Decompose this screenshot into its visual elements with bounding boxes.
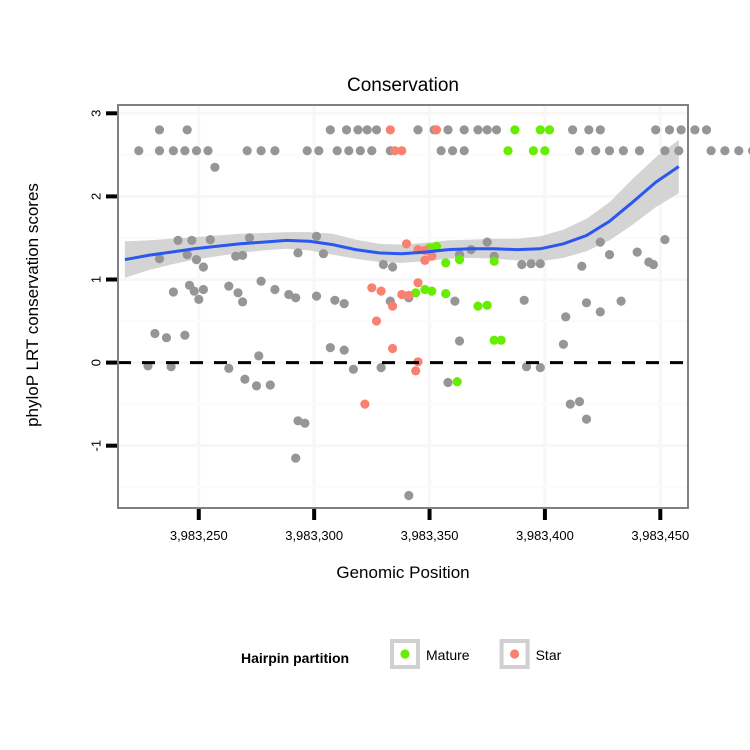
x-tick-label: 3,983,450 bbox=[631, 528, 689, 543]
data-point-unassigned bbox=[443, 125, 452, 134]
data-point-star bbox=[402, 239, 411, 248]
data-point-unassigned bbox=[559, 340, 568, 349]
data-point-unassigned bbox=[344, 146, 353, 155]
data-point-unassigned bbox=[330, 296, 339, 305]
data-point-unassigned bbox=[575, 397, 584, 406]
legend-entry-label: Star bbox=[536, 647, 562, 663]
data-point-unassigned bbox=[169, 287, 178, 296]
data-point-unassigned bbox=[155, 125, 164, 134]
data-point-unassigned bbox=[443, 378, 452, 387]
y-tick-label: 1 bbox=[89, 276, 104, 283]
data-point-unassigned bbox=[314, 146, 323, 155]
data-point-unassigned bbox=[450, 297, 459, 306]
data-point-unassigned bbox=[460, 125, 469, 134]
data-point-unassigned bbox=[349, 365, 358, 374]
data-point-mature bbox=[497, 336, 506, 345]
data-point-unassigned bbox=[300, 419, 309, 428]
data-point-unassigned bbox=[527, 259, 536, 268]
data-point-unassigned bbox=[734, 146, 743, 155]
data-point-mature bbox=[441, 289, 450, 298]
data-point-unassigned bbox=[194, 295, 203, 304]
data-point-unassigned bbox=[690, 125, 699, 134]
data-point-star bbox=[404, 291, 413, 300]
y-tick-label: 3 bbox=[89, 110, 104, 117]
data-point-unassigned bbox=[635, 146, 644, 155]
data-point-mature bbox=[427, 287, 436, 296]
x-tick-label: 3,983,350 bbox=[401, 528, 459, 543]
x-tick-label: 3,983,400 bbox=[516, 528, 574, 543]
data-point-unassigned bbox=[238, 297, 247, 306]
data-point-unassigned bbox=[455, 336, 464, 345]
data-point-unassigned bbox=[591, 146, 600, 155]
data-point-unassigned bbox=[674, 146, 683, 155]
data-point-unassigned bbox=[203, 146, 212, 155]
data-point-unassigned bbox=[617, 297, 626, 306]
data-point-unassigned bbox=[651, 125, 660, 134]
data-point-unassigned bbox=[575, 146, 584, 155]
data-point-star bbox=[432, 125, 441, 134]
data-point-unassigned bbox=[257, 146, 266, 155]
data-point-unassigned bbox=[483, 238, 492, 247]
data-point-unassigned bbox=[596, 125, 605, 134]
data-point-unassigned bbox=[536, 259, 545, 268]
data-point-unassigned bbox=[206, 235, 215, 244]
data-point-unassigned bbox=[561, 312, 570, 321]
data-point-star bbox=[372, 316, 381, 325]
data-point-mature bbox=[483, 301, 492, 310]
data-point-unassigned bbox=[210, 163, 219, 172]
data-point-unassigned bbox=[199, 285, 208, 294]
data-point-unassigned bbox=[584, 125, 593, 134]
data-point-unassigned bbox=[633, 248, 642, 257]
x-axis-label: Genomic Position bbox=[336, 563, 469, 582]
data-point-mature bbox=[536, 125, 545, 134]
data-point-mature bbox=[540, 146, 549, 155]
data-point-unassigned bbox=[199, 262, 208, 271]
data-point-unassigned bbox=[379, 260, 388, 269]
data-point-unassigned bbox=[183, 125, 192, 134]
data-point-unassigned bbox=[520, 296, 529, 305]
data-point-star bbox=[386, 125, 395, 134]
data-point-unassigned bbox=[660, 146, 669, 155]
y-tick-label: 0 bbox=[89, 359, 104, 366]
data-point-unassigned bbox=[660, 235, 669, 244]
data-point-unassigned bbox=[155, 146, 164, 155]
data-point-unassigned bbox=[291, 454, 300, 463]
data-point-unassigned bbox=[243, 146, 252, 155]
data-point-unassigned bbox=[190, 287, 199, 296]
data-point-mature bbox=[473, 302, 482, 311]
data-point-star bbox=[360, 400, 369, 409]
data-point-unassigned bbox=[677, 125, 686, 134]
x-tick-label: 3,983,300 bbox=[285, 528, 343, 543]
data-point-unassigned bbox=[254, 351, 263, 360]
data-point-unassigned bbox=[192, 255, 201, 264]
data-point-unassigned bbox=[483, 125, 492, 134]
data-point-unassigned bbox=[252, 381, 261, 390]
legend-key-dot bbox=[510, 649, 519, 658]
data-point-unassigned bbox=[473, 125, 482, 134]
data-point-unassigned bbox=[596, 307, 605, 316]
data-point-unassigned bbox=[312, 292, 321, 301]
data-point-unassigned bbox=[192, 146, 201, 155]
data-point-unassigned bbox=[356, 146, 365, 155]
data-point-unassigned bbox=[319, 249, 328, 258]
data-point-unassigned bbox=[233, 288, 242, 297]
data-point-star bbox=[420, 256, 429, 265]
data-point-mature bbox=[503, 146, 512, 155]
data-point-unassigned bbox=[566, 400, 575, 409]
data-point-unassigned bbox=[270, 285, 279, 294]
legend-key-dot bbox=[400, 649, 409, 658]
data-point-unassigned bbox=[180, 146, 189, 155]
data-point-unassigned bbox=[266, 380, 275, 389]
data-point-star bbox=[411, 366, 420, 375]
y-tick-label: -1 bbox=[89, 440, 104, 452]
data-point-unassigned bbox=[619, 146, 628, 155]
legend-entry-label: Mature bbox=[426, 647, 470, 663]
data-point-unassigned bbox=[173, 236, 182, 245]
data-point-unassigned bbox=[413, 125, 422, 134]
data-point-star bbox=[367, 283, 376, 292]
data-point-unassigned bbox=[605, 250, 614, 259]
data-point-unassigned bbox=[448, 146, 457, 155]
data-point-unassigned bbox=[460, 146, 469, 155]
data-point-unassigned bbox=[568, 125, 577, 134]
y-tick-label: 2 bbox=[89, 193, 104, 200]
data-point-unassigned bbox=[224, 364, 233, 373]
data-point-unassigned bbox=[291, 293, 300, 302]
conservation-scatter-plot: Conservation phyloP LRT conservation sco… bbox=[0, 0, 750, 750]
data-point-unassigned bbox=[353, 125, 362, 134]
data-point-star bbox=[388, 302, 397, 311]
data-point-unassigned bbox=[257, 277, 266, 286]
data-point-unassigned bbox=[270, 146, 279, 155]
data-point-mature bbox=[441, 258, 450, 267]
data-point-unassigned bbox=[388, 262, 397, 271]
data-point-unassigned bbox=[187, 236, 196, 245]
data-point-mature bbox=[510, 125, 519, 134]
data-point-unassigned bbox=[577, 262, 586, 271]
data-point-mature bbox=[455, 255, 464, 264]
data-point-unassigned bbox=[372, 125, 381, 134]
data-point-mature bbox=[529, 146, 538, 155]
data-point-unassigned bbox=[517, 260, 526, 269]
data-point-unassigned bbox=[720, 146, 729, 155]
data-point-unassigned bbox=[303, 146, 312, 155]
data-point-unassigned bbox=[333, 146, 342, 155]
data-point-unassigned bbox=[293, 248, 302, 257]
data-point-unassigned bbox=[238, 251, 247, 260]
data-point-unassigned bbox=[312, 232, 321, 241]
data-point-unassigned bbox=[224, 282, 233, 291]
data-point-star bbox=[388, 344, 397, 353]
data-point-mature bbox=[545, 125, 554, 134]
data-point-mature bbox=[453, 377, 462, 386]
data-point-unassigned bbox=[707, 146, 716, 155]
data-point-unassigned bbox=[649, 260, 658, 269]
data-point-unassigned bbox=[134, 146, 143, 155]
data-point-unassigned bbox=[340, 346, 349, 355]
data-point-unassigned bbox=[240, 375, 249, 384]
data-point-unassigned bbox=[162, 333, 171, 342]
data-point-unassigned bbox=[437, 146, 446, 155]
data-point-unassigned bbox=[492, 125, 501, 134]
data-point-unassigned bbox=[326, 125, 335, 134]
data-point-unassigned bbox=[169, 146, 178, 155]
data-point-unassigned bbox=[245, 233, 254, 242]
data-point-unassigned bbox=[404, 491, 413, 500]
data-point-mature bbox=[490, 257, 499, 266]
data-point-unassigned bbox=[367, 146, 376, 155]
data-point-unassigned bbox=[536, 363, 545, 372]
y-axis-label: phyloP LRT conservation scores bbox=[23, 183, 42, 427]
data-point-unassigned bbox=[665, 125, 674, 134]
data-point-unassigned bbox=[582, 298, 591, 307]
panel-background bbox=[118, 105, 688, 508]
data-point-unassigned bbox=[596, 238, 605, 247]
data-point-star bbox=[413, 278, 422, 287]
data-point-unassigned bbox=[363, 125, 372, 134]
data-point-unassigned bbox=[150, 329, 159, 338]
data-point-unassigned bbox=[582, 415, 591, 424]
x-tick-label: 3,983,250 bbox=[170, 528, 228, 543]
data-point-unassigned bbox=[605, 146, 614, 155]
plot-panel bbox=[118, 105, 750, 508]
chart-title: Conservation bbox=[347, 75, 459, 96]
data-point-unassigned bbox=[702, 125, 711, 134]
data-point-unassigned bbox=[326, 343, 335, 352]
data-point-star bbox=[397, 146, 406, 155]
data-point-unassigned bbox=[340, 299, 349, 308]
data-point-unassigned bbox=[342, 125, 351, 134]
data-point-unassigned bbox=[377, 363, 386, 372]
data-point-star bbox=[377, 287, 386, 296]
legend-title: Hairpin partition bbox=[241, 650, 349, 666]
data-point-unassigned bbox=[180, 331, 189, 340]
